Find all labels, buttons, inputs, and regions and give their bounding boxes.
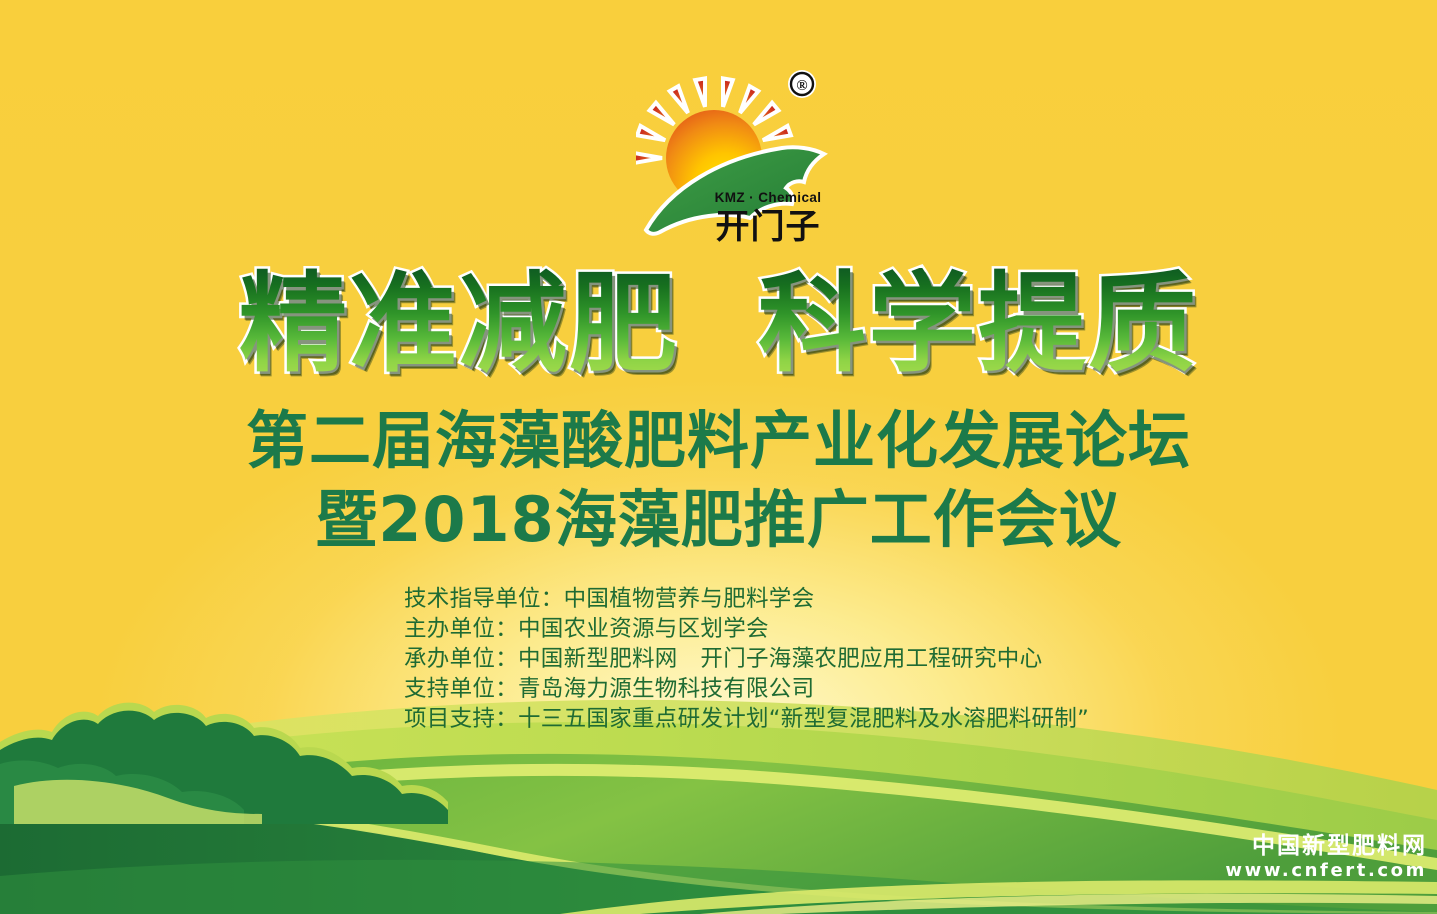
logo-artwork: ® KMZ · Chemical 开门子 (636, 62, 836, 252)
company-logo: ® KMZ · Chemical 开门子 (636, 62, 836, 252)
organizer-info-block: 技术指导单位：中国植物营养与肥料学会 主办单位：中国农业资源与区划学会 承办单位… (404, 584, 1089, 734)
brand-chinese-text: 开门子 (716, 207, 821, 247)
subtitle-line-2: 暨2018海藻肥推广工作会议 (0, 483, 1437, 556)
poster-canvas: ® KMZ · Chemical 开门子 精准减肥 科学提质 精准减肥 科学提质… (0, 0, 1437, 914)
watermark-url: www.cnfert.com (1225, 860, 1427, 882)
info-line-support: 支持单位：青岛海力源生物科技有限公司 (404, 674, 1089, 704)
headline-text: 精准减肥 科学提质 (0, 268, 1437, 381)
trademark-glyph: ® (796, 78, 807, 94)
info-line-host: 主办单位：中国农业资源与区划学会 (404, 614, 1089, 644)
watermark-site-name: 中国新型肥料网 (1225, 833, 1427, 859)
registered-trademark-icon: ® (788, 70, 816, 98)
brand-latin-text: KMZ · Chemical (715, 190, 822, 205)
subtitle-line-1: 第二届海藻酸肥料产业化发展论坛 (0, 404, 1437, 477)
subtitle-block: 第二届海藻酸肥料产业化发展论坛 暨2018海藻肥推广工作会议 (0, 404, 1437, 556)
info-line-project-support: 项目支持：十三五国家重点研发计划“新型复混肥料及水溶肥料研制” (404, 704, 1089, 734)
info-line-technical-guidance: 技术指导单位：中国植物营养与肥料学会 (404, 584, 1089, 614)
info-line-organizer: 承办单位：中国新型肥料网 开门子海藻农肥应用工程研究中心 (404, 644, 1089, 674)
site-watermark: 中国新型肥料网 www.cnfert.com (1225, 833, 1427, 882)
